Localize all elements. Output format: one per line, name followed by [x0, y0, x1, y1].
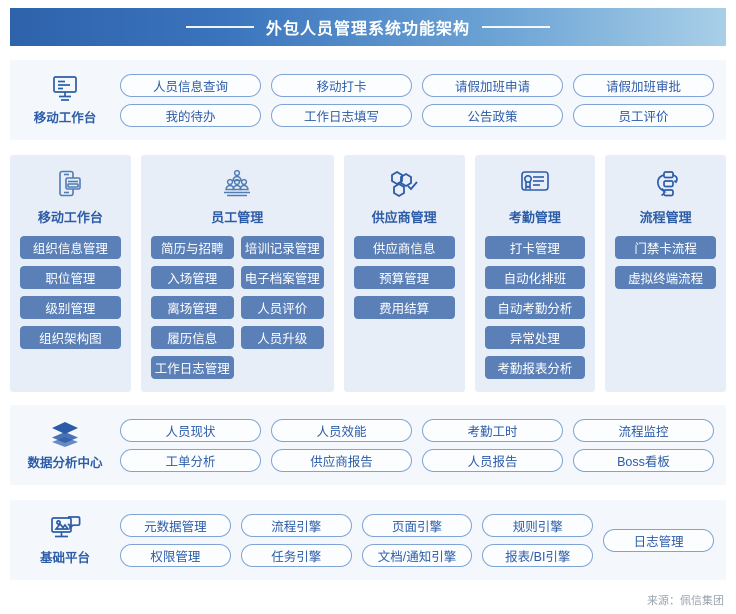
data-center-item[interactable]: Boss看板	[573, 449, 714, 472]
card-item[interactable]: 职位管理	[20, 266, 121, 289]
base-platform-item[interactable]: 流程引擎	[241, 514, 352, 537]
data-center-item[interactable]: 供应商报告	[271, 449, 412, 472]
section-mobile-workbench: 移动工作台 人员信息查询 移动打卡 请假加班申请 请假加班审批 我的待办 工作日…	[10, 60, 726, 140]
card-item[interactable]: 预算管理	[354, 266, 455, 289]
mobile-item[interactable]: 请假加班审批	[573, 74, 714, 97]
card-item[interactable]: 考勤报表分析	[485, 356, 586, 379]
mobile-item[interactable]: 工作日志填写	[271, 104, 412, 127]
base-platform-item[interactable]: 文档/通知引擎	[362, 544, 473, 567]
card-attendance-management: 考勤管理 打卡管理 自动化排班 自动考勤分析 异常处理 考勤报表分析	[475, 155, 596, 392]
header-decoration-line-right	[482, 26, 550, 28]
data-center-item[interactable]: 人员报告	[422, 449, 563, 472]
card-items: 组织信息管理 职位管理 级别管理 组织架构图	[20, 236, 121, 349]
card-title: 供应商管理	[372, 207, 437, 226]
base-platform-item[interactable]: 页面引擎	[362, 514, 473, 537]
card-supplier-management: 供应商管理 供应商信息 预算管理 费用结算	[344, 155, 465, 392]
mobile-item[interactable]: 人员信息查询	[120, 74, 261, 97]
header-decoration-line-left	[186, 26, 254, 28]
card-items: 打卡管理 自动化排班 自动考勤分析 异常处理 考勤报表分析	[485, 236, 586, 379]
base-platform-log-item[interactable]: 日志管理	[603, 529, 714, 552]
section-feature-cards: 移动工作台 组织信息管理 职位管理 级别管理 组织架构图	[10, 155, 726, 392]
card-title: 员工管理	[211, 207, 263, 226]
card-item[interactable]: 电子档案管理	[241, 266, 324, 289]
data-center-item[interactable]: 工单分析	[120, 449, 261, 472]
data-center-items: 人员现状 人员效能 考勤工时 流程监控 工单分析 供应商报告 人员报告 Boss…	[120, 419, 726, 472]
mobile-device-icon	[55, 167, 85, 201]
card-item[interactable]: 自动化排班	[485, 266, 586, 289]
data-center-item[interactable]: 流程监控	[573, 419, 714, 442]
base-platform-label: 基础平台	[40, 547, 90, 566]
monitor-chat-icon	[49, 515, 81, 543]
card-item[interactable]: 费用结算	[354, 296, 455, 319]
people-group-icon	[218, 167, 256, 201]
base-platform-item[interactable]: 元数据管理	[120, 514, 231, 537]
page-header: 外包人员管理系统功能架构	[10, 8, 726, 46]
card-item[interactable]: 供应商信息	[354, 236, 455, 259]
card-item[interactable]: 打卡管理	[485, 236, 586, 259]
card-title: 考勤管理	[509, 207, 561, 226]
card-employee-management: 员工管理 简历与招聘 培训记录管理 入场管理 电子档案管理 离场管理 人员评价 …	[141, 155, 334, 392]
layers-icon	[50, 420, 80, 448]
card-item[interactable]: 虚拟终端流程	[615, 266, 716, 289]
source-credit: 来源：佩信集团	[647, 592, 724, 608]
card-item[interactable]: 组织信息管理	[20, 236, 121, 259]
desktop-monitor-icon	[50, 75, 80, 103]
data-center-item[interactable]: 人员现状	[120, 419, 261, 442]
data-center-item[interactable]: 考勤工时	[422, 419, 563, 442]
hexagon-check-icon	[387, 167, 421, 201]
workflow-icon	[649, 167, 683, 201]
card-item[interactable]: 组织架构图	[20, 326, 121, 349]
base-platform-item[interactable]: 规则引擎	[482, 514, 593, 537]
mobile-item[interactable]: 员工评价	[573, 104, 714, 127]
data-center-label-group: 数据分析中心	[10, 420, 120, 471]
base-platform-item[interactable]: 权限管理	[120, 544, 231, 567]
card-item[interactable]: 人员评价	[241, 296, 324, 319]
card-item[interactable]: 入场管理	[151, 266, 234, 289]
card-item[interactable]: 简历与招聘	[151, 236, 234, 259]
section-base-platform: 基础平台 元数据管理 流程引擎 页面引擎 规则引擎 日志管理 权限管理 任务引擎…	[10, 500, 726, 580]
page-title: 外包人员管理系统功能架构	[266, 15, 470, 39]
section-data-center: 数据分析中心 人员现状 人员效能 考勤工时 流程监控 工单分析 供应商报告 人员…	[10, 405, 726, 485]
card-mobile-workbench: 移动工作台 组织信息管理 职位管理 级别管理 组织架构图	[10, 155, 131, 392]
card-item[interactable]: 自动考勤分析	[485, 296, 586, 319]
card-title: 流程管理	[640, 207, 692, 226]
card-items: 门禁卡流程 虚拟终端流程	[615, 236, 716, 289]
base-platform-item[interactable]: 报表/BI引擎	[482, 544, 593, 567]
base-platform-items: 元数据管理 流程引擎 页面引擎 规则引擎 日志管理 权限管理 任务引擎 文档/通…	[120, 514, 726, 567]
base-platform-label-group: 基础平台	[10, 515, 120, 566]
card-item[interactable]: 门禁卡流程	[615, 236, 716, 259]
mobile-item[interactable]: 公告政策	[422, 104, 563, 127]
card-item[interactable]: 级别管理	[20, 296, 121, 319]
base-platform-item[interactable]: 任务引擎	[241, 544, 352, 567]
card-item[interactable]: 异常处理	[485, 326, 586, 349]
mobile-workbench-label: 移动工作台	[34, 107, 97, 126]
card-item[interactable]: 工作日志管理	[151, 356, 234, 379]
certificate-icon	[518, 167, 552, 201]
architecture-diagram: 外包人员管理系统功能架构 移动工作台 人员信息查询 移动打卡 请假加班申请	[0, 0, 736, 614]
card-items: 供应商信息 预算管理 费用结算	[354, 236, 455, 319]
card-item[interactable]: 履历信息	[151, 326, 234, 349]
mobile-workbench-items: 人员信息查询 移动打卡 请假加班申请 请假加班审批 我的待办 工作日志填写 公告…	[120, 74, 726, 127]
mobile-item[interactable]: 请假加班申请	[422, 74, 563, 97]
data-center-label: 数据分析中心	[27, 452, 102, 471]
mobile-item[interactable]: 我的待办	[120, 104, 261, 127]
card-item[interactable]: 培训记录管理	[241, 236, 324, 259]
card-process-management: 流程管理 门禁卡流程 虚拟终端流程	[605, 155, 726, 392]
card-item[interactable]: 离场管理	[151, 296, 234, 319]
mobile-item[interactable]: 移动打卡	[271, 74, 412, 97]
card-items: 简历与招聘 培训记录管理 入场管理 电子档案管理 离场管理 人员评价 履历信息 …	[151, 236, 324, 379]
card-title: 移动工作台	[38, 207, 103, 226]
data-center-item[interactable]: 人员效能	[271, 419, 412, 442]
mobile-workbench-label-group: 移动工作台	[10, 75, 120, 126]
card-item[interactable]: 人员升级	[241, 326, 324, 349]
